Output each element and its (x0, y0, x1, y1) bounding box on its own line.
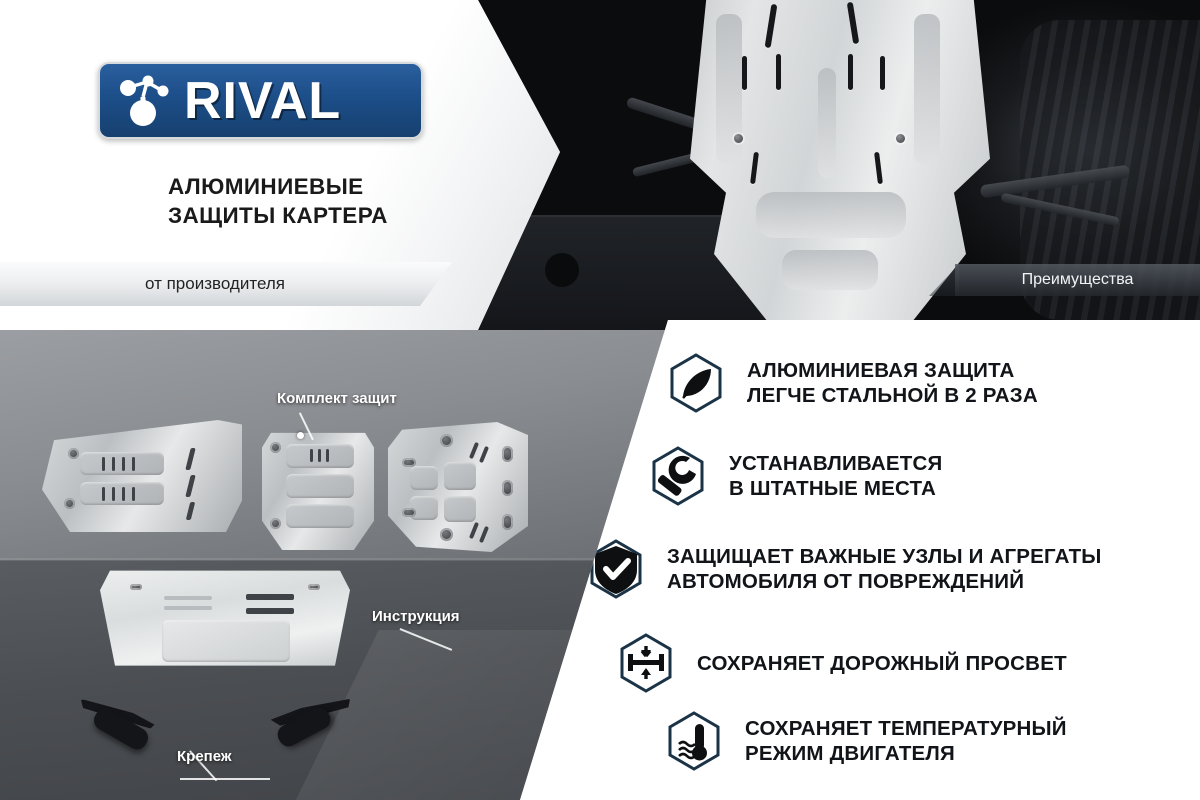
benefit-2-line2: В ШТАТНЫЕ МЕСТА (729, 476, 942, 501)
infographic-canvas: RIVAL АЛЮМИНИЕВЫЕ ЗАЩИТЫ КАРТЕРА от прои… (0, 0, 1200, 800)
benefit-1-line1: АЛЮМИНИЕВАЯ ЗАЩИТА (747, 358, 1038, 383)
leader-dot-kit (297, 432, 304, 439)
tab-advantages[interactable]: Преимущества (955, 264, 1200, 296)
page-title: АЛЮМИНИЕВЫЕ ЗАЩИТЫ КАРТЕРА (168, 172, 498, 231)
benefit-item-5: СОХРАНЯЕТ ТЕМПЕРАТУРНЫЙ РЕЖИМ ДВИГАТЕЛЯ (663, 710, 1067, 772)
benefit-2-line1: УСТАНАВЛИВАЕТСЯ (729, 451, 942, 476)
ground-clearance-icon (615, 632, 677, 694)
page-title-line2: ЗАЩИТЫ КАРТЕРА (168, 201, 498, 230)
installed-skid-plate (690, 0, 990, 322)
molecule-icon (116, 73, 174, 129)
benefit-text-1: АЛЮМИНИЕВАЯ ЗАЩИТА ЛЕГЧЕ СТАЛЬНОЙ В 2 РА… (747, 358, 1038, 408)
benefit-item-2: УСТАНАВЛИВАЕТСЯ В ШТАТНЫЕ МЕСТА (647, 445, 942, 507)
benefit-text-5: СОХРАНЯЕТ ТЕМПЕРАТУРНЫЙ РЕЖИМ ДВИГАТЕЛЯ (745, 716, 1067, 766)
subtitle-text: от производителя (145, 274, 307, 294)
logo-wordmark: RIVAL (184, 75, 341, 127)
benefit-3-line2: АВТОМОБИЛЯ ОТ ПОВРЕЖДЕНИЙ (667, 569, 1102, 594)
benefit-1-line2: ЛЕГЧЕ СТАЛЬНОЙ В 2 РАЗА (747, 383, 1038, 408)
benefit-item-4: СОХРАНЯЕТ ДОРОЖНЫЙ ПРОСВЕТ (615, 632, 1067, 694)
benefit-text-2: УСТАНАВЛИВАЕТСЯ В ШТАТНЫЕ МЕСТА (729, 451, 942, 501)
main-skid-plate (100, 562, 350, 670)
leader-underline-fasteners (180, 778, 270, 780)
benefit-item-1: АЛЮМИНИЕВАЯ ЗАЩИТА ЛЕГЧЕ СТАЛЬНОЙ В 2 РА… (665, 352, 1038, 414)
leaf-icon (665, 352, 727, 414)
benefit-item-3: ЗАЩИЩАЕТ ВАЖНЫЕ УЗЛЫ И АГРЕГАТЫ АВТОМОБИ… (585, 538, 1102, 600)
page-title-line1: АЛЮМИНИЕВЫЕ (168, 172, 498, 201)
subtitle-banner: от производителя (0, 262, 452, 306)
thermometer-icon (663, 710, 725, 772)
label-fasteners: Крепеж (177, 748, 232, 765)
label-protection-kit: Комплект защит (277, 390, 397, 407)
benefit-5-line1: СОХРАНЯЕТ ТЕМПЕРАТУРНЫЙ (745, 716, 1067, 741)
tab-advantages-label: Преимущества (1022, 271, 1134, 289)
wrench-icon (647, 445, 709, 507)
skid-plate-left (42, 420, 242, 532)
skid-plate-right (388, 422, 528, 552)
benefit-4-line1: СОХРАНЯЕТ ДОРОЖНЫЙ ПРОСВЕТ (697, 651, 1067, 676)
rival-logo: RIVAL (98, 62, 423, 139)
vehicle-underbody-photo: RIVAL АЛЮМИНИЕВЫЕ ЗАЩИТЫ КАРТЕРА от прои… (0, 0, 1200, 330)
benefit-5-line2: РЕЖИМ ДВИГАТЕЛЯ (745, 741, 1067, 766)
skid-plate-middle (262, 428, 374, 550)
label-instruction: Инструкция (372, 608, 460, 625)
benefit-text-4: СОХРАНЯЕТ ДОРОЖНЫЙ ПРОСВЕТ (697, 651, 1067, 676)
benefit-3-line1: ЗАЩИЩАЕТ ВАЖНЫЕ УЗЛЫ И АГРЕГАТЫ (667, 544, 1102, 569)
benefit-text-3: ЗАЩИЩАЕТ ВАЖНЫЕ УЗЛЫ И АГРЕГАТЫ АВТОМОБИ… (667, 544, 1102, 594)
